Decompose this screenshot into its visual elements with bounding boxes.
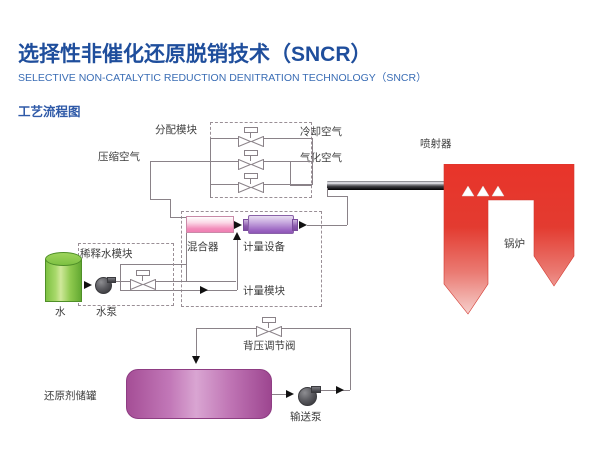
pipe-back-pressure-left (196, 328, 256, 329)
water-pump (95, 275, 117, 295)
water-pump-spout-icon (107, 277, 116, 283)
valve-actuator-icon (262, 317, 276, 323)
valve-actuator-icon (136, 270, 150, 276)
label-injector: 喷射器 (420, 136, 452, 151)
label-distribution-module: 分配模块 (155, 122, 197, 137)
valve-bowtie-icon (238, 136, 264, 147)
label-metering-equipment: 计量设备 (243, 239, 285, 254)
pipe-mixer-inlet-riser (186, 233, 187, 264)
control-valve-atomizing-air[interactable] (238, 150, 264, 170)
label-boiler: 锅炉 (504, 236, 525, 251)
label-transfer-pump: 输送泵 (290, 409, 322, 424)
transfer-pump-spout-icon (311, 386, 321, 393)
arrow-metering-outlet (299, 221, 307, 229)
label-water-pump: 水泵 (96, 304, 117, 319)
pipe-metering-outlet (307, 225, 347, 226)
label-back-pressure-valve: 背压调节阀 (243, 338, 296, 353)
pipe-atomizing-air-down (290, 161, 291, 185)
valve-bowtie-icon (256, 326, 282, 337)
back-pressure-regulating-valve[interactable] (256, 317, 282, 337)
valve-actuator-icon (244, 173, 258, 179)
arrow-water-to-pump (84, 281, 92, 289)
label-atomizing-air: 气化空气 (300, 150, 342, 165)
pipe-metering-to-lance-riser (347, 196, 348, 225)
valve-actuator-icon (244, 127, 258, 133)
arrow-reductant-into-mixer (233, 232, 241, 240)
valve-bowtie-icon (238, 159, 264, 170)
arrow-transfer-discharge (336, 386, 344, 394)
pipe-valve1-in (210, 138, 238, 139)
label-water: 水 (55, 304, 66, 319)
label-compressed-air: 压缩空气 (98, 149, 140, 164)
pipe-water-pump-discharge (116, 281, 130, 282)
label-mixer: 混合器 (187, 239, 219, 254)
boiler-nozzle-group-icon (461, 185, 507, 197)
pipe-air-to-mixer (170, 217, 186, 218)
pipe-reductant-riser (237, 265, 238, 290)
mixer-vessel (186, 216, 234, 233)
reductant-storage-tank (126, 369, 272, 419)
arrow-mixer-to-metering (234, 221, 242, 229)
label-dilution-water-module: 稀释水模块 (80, 246, 133, 261)
pipe-dilution-water-riser (186, 264, 187, 281)
pipe-air-to-mixer-drop (170, 199, 171, 217)
valve-bowtie-icon (130, 279, 156, 290)
pipe-return-to-tank (196, 328, 197, 356)
pipe-valve3-in (210, 184, 238, 185)
slide-canvas: 选择性非催化还原脱销技术（SNCR） SELECTIVE NON-CATALYT… (0, 0, 600, 450)
pipe-dilution-water-run (156, 281, 236, 282)
pipe-back-pressure-right (282, 328, 350, 329)
process-flow-diagram: 分配模块 压缩空气 冷却空气 气化空气 (0, 0, 600, 450)
valve-actuator-icon (244, 150, 258, 156)
pipe-compressed-air-inlet (150, 161, 210, 162)
pipe-reductant-riser-upper (237, 240, 238, 268)
pipe-cooling-air-to-lance (290, 185, 312, 186)
pipe-metering-to-lance (327, 196, 347, 197)
control-valve-injection[interactable] (238, 173, 264, 193)
pipe-valve1-out (264, 138, 312, 139)
label-reductant-storage-tank: 还原剂储罐 (44, 388, 97, 403)
arrow-reductant-feed (200, 286, 208, 294)
valve-bowtie-icon (238, 182, 264, 193)
pipe-cooling-air-down (312, 138, 313, 185)
pipe-air-branch (150, 199, 170, 200)
control-valve-cooling-air[interactable] (238, 127, 264, 147)
arrow-return-into-tank (192, 356, 200, 364)
pipe-valve2-out (264, 161, 312, 162)
water-tank-top (45, 252, 82, 266)
pipe-valve2-in (210, 161, 238, 162)
control-valve-dilution-water[interactable] (130, 270, 156, 290)
label-metering-module: 计量模块 (243, 283, 285, 298)
pipe-recycle-riser (350, 328, 351, 390)
pipe-module-left-header (210, 138, 211, 198)
pipe-compressed-air-riser (150, 161, 151, 199)
label-cooling-air: 冷却空气 (300, 124, 342, 139)
metering-equipment-cap-right (292, 219, 298, 231)
transfer-pump (298, 385, 322, 407)
metering-equipment (248, 215, 294, 234)
pipe-lance-connect (327, 188, 328, 196)
arrow-tank-to-transfer-pump (286, 390, 294, 398)
